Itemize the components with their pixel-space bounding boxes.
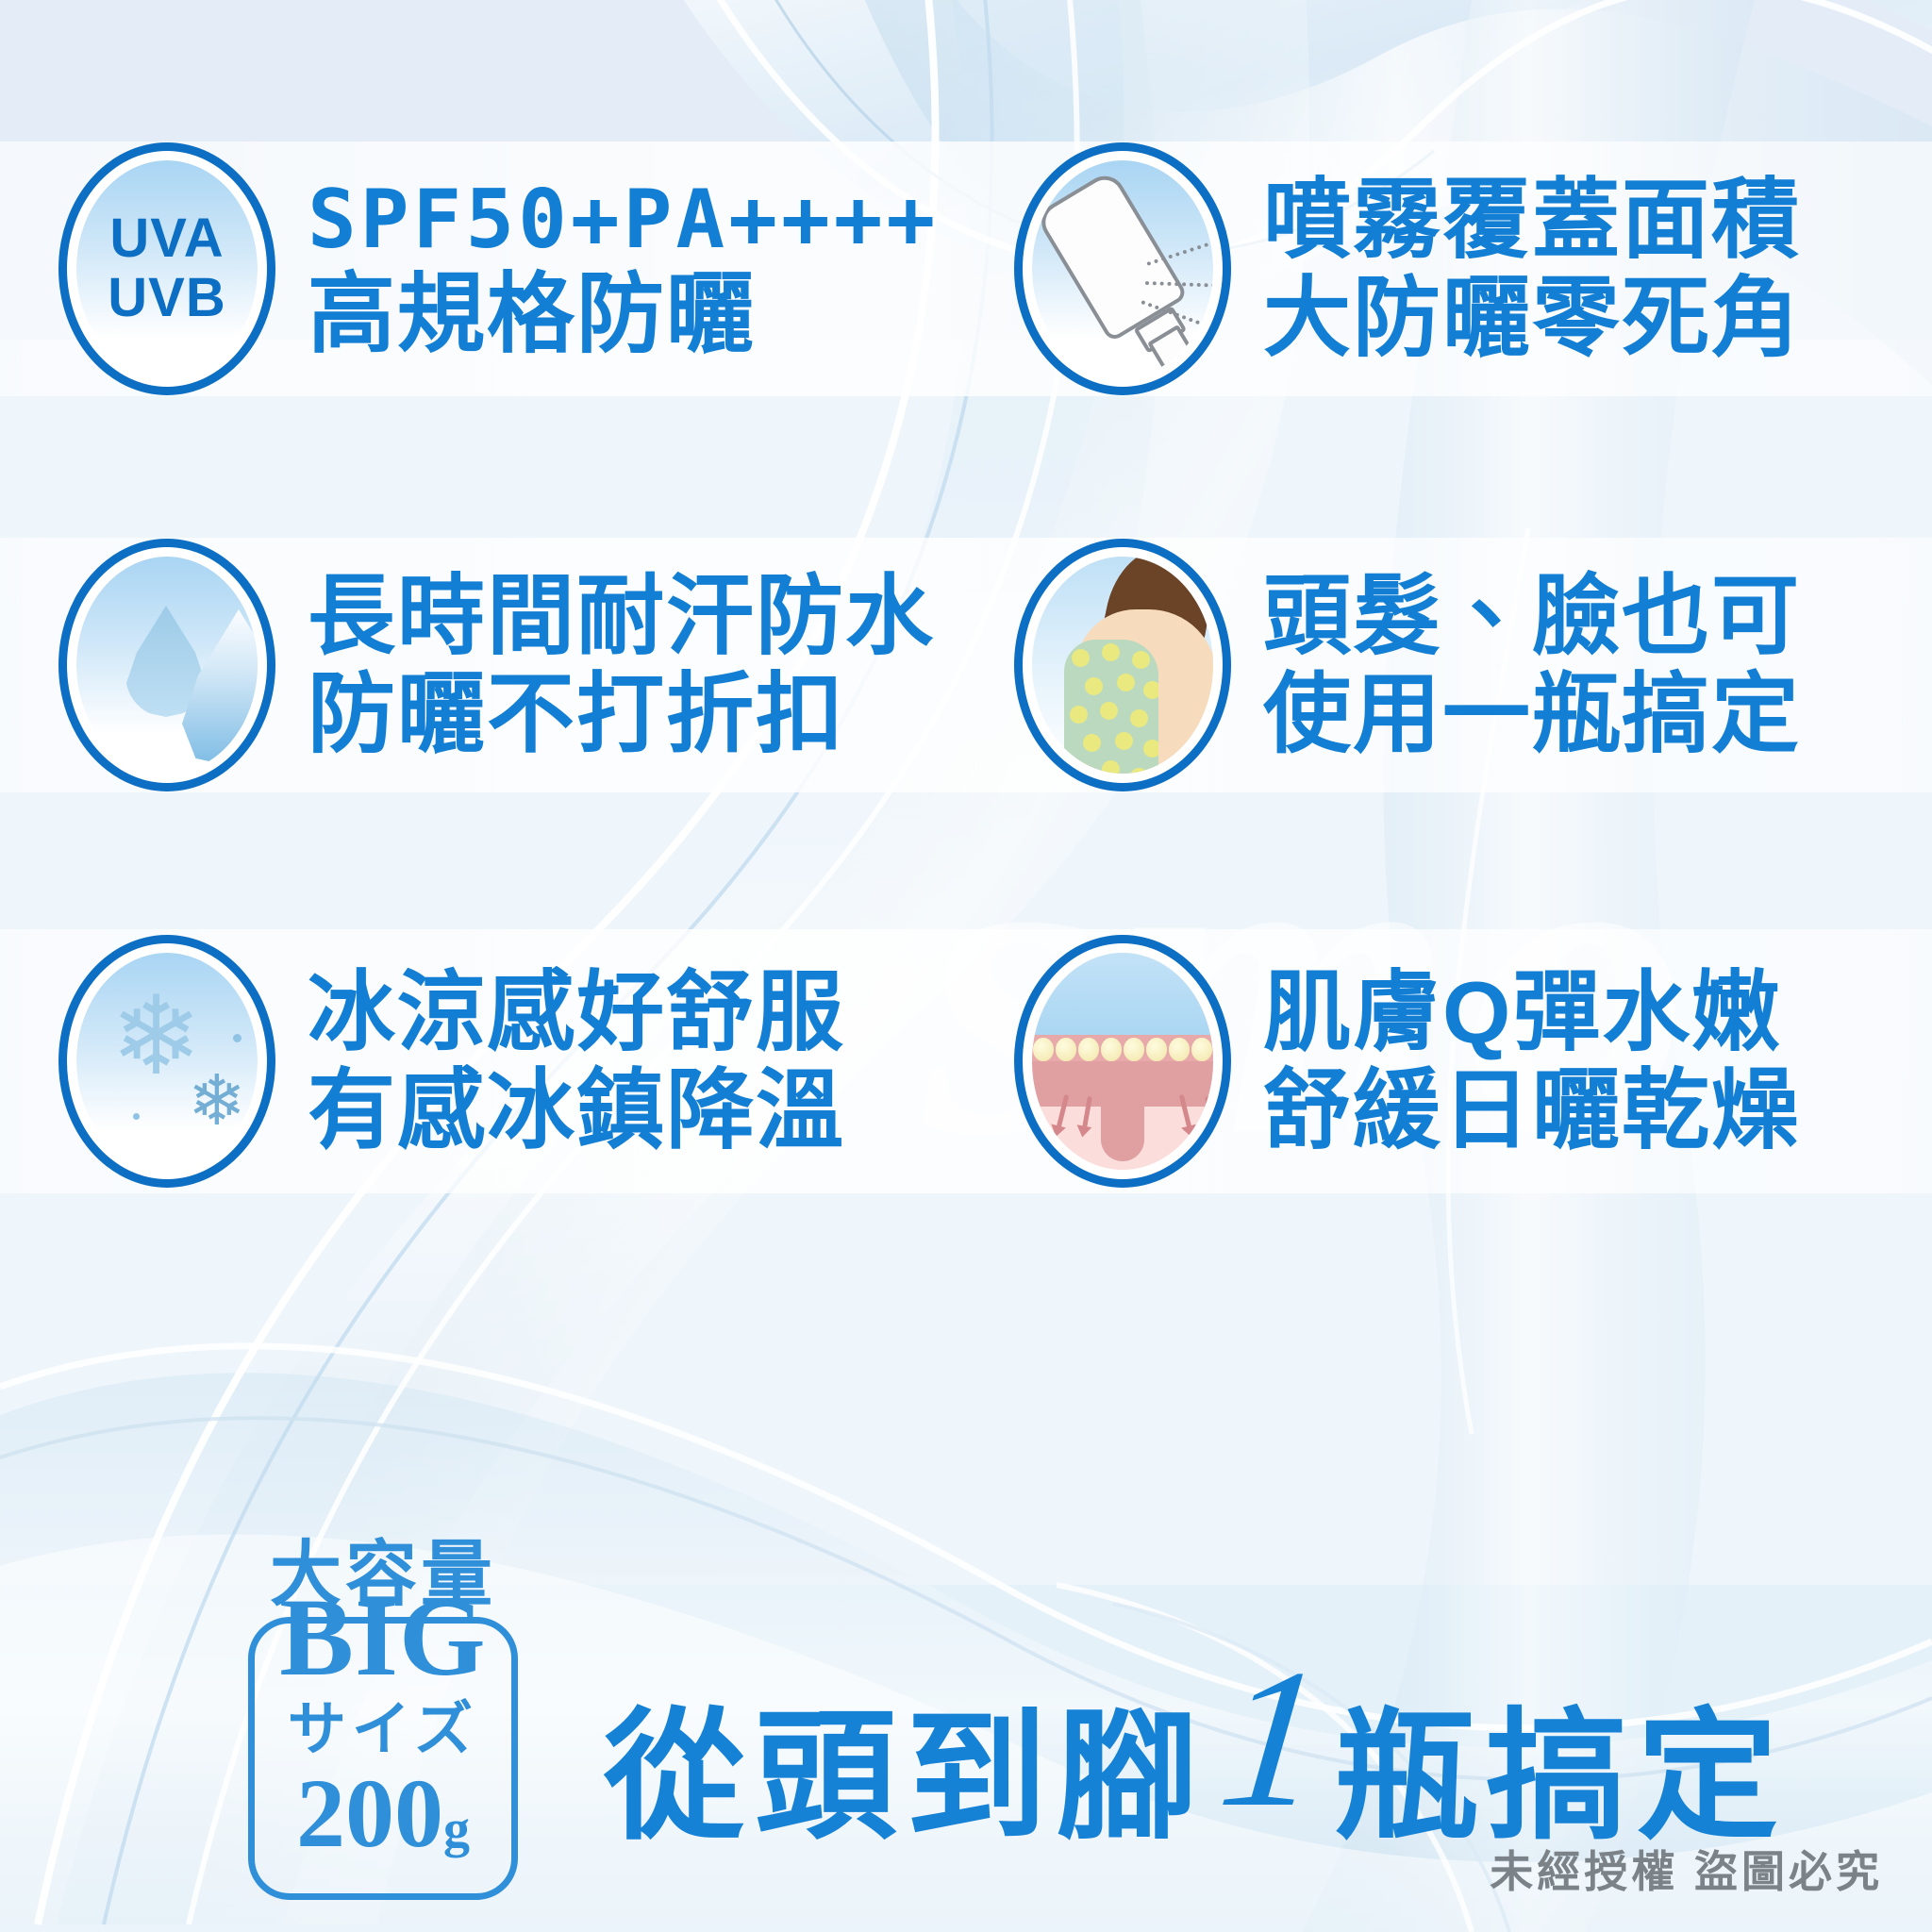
size-badge-weight-number: 200 (296, 1759, 443, 1868)
feature-line-2a: 噴霧覆蓋面積 (1263, 171, 1801, 269)
feature-line-5a: 冰涼感好舒服 (308, 963, 845, 1061)
badge-inner (1032, 557, 1213, 774)
skin-cross-section-icon (1014, 935, 1231, 1188)
feature-cell-skin[interactable]: 肌膚Q彈水嫩 舒緩日曬乾燥 (976, 934, 1932, 1189)
feature-text-3: 長時間耐汗防水 防曬不打折扣 (308, 567, 935, 763)
badge-inner: ❄ ❄ (76, 953, 258, 1170)
feature-text-6: 肌膚Q彈水嫩 舒緩日曬乾燥 (1263, 963, 1801, 1159)
feature-line-6a: 肌膚Q彈水嫩 (1263, 963, 1801, 1061)
headline-part-2: 瓶搞定 (1335, 1700, 1788, 1857)
feature-line-4b: 使用一瓶搞定 (1263, 665, 1801, 763)
feature-line-2b: 大防曬零死角 (1263, 269, 1801, 367)
skin-surface-layer (1032, 953, 1213, 1040)
woman-swimsuit-icon (1014, 539, 1231, 791)
feature-line-5b: 有感冰鎮降溫 (308, 1061, 845, 1159)
copyright-notice: 未經授權 盜圖必究 (1490, 1838, 1883, 1900)
skin-pore-shape (1101, 1088, 1144, 1161)
snowflake-icon: ❄ ❄ (58, 935, 275, 1188)
uva-uvb-badge-icon: UVA UVB (58, 142, 275, 395)
uva-label: UVA (109, 208, 224, 269)
snowflake-small-icon: ❄ (188, 1066, 246, 1136)
swimsuit-shape (1064, 640, 1158, 774)
size-badge-big-label: BIG (255, 1582, 511, 1693)
snow-dot-icon (233, 1034, 241, 1042)
size-badge-size-label: サイズ (255, 1701, 511, 1759)
feature-grid: UVA UVB SPF50+PA++++ 高規格防曬 (0, 0, 1932, 1500)
feature-row-3: ❄ ❄ 冰涼感好舒服 有感冰鎮降溫 (0, 934, 1932, 1189)
badge-inner (1032, 160, 1213, 377)
feature-text-2: 噴霧覆蓋面積 大防曬零死角 (1263, 171, 1801, 367)
feature-cell-cooling[interactable]: ❄ ❄ 冰涼感好舒服 有感冰鎮降溫 (0, 934, 976, 1189)
feature-cell-uva-uvb[interactable]: UVA UVB SPF50+PA++++ 高規格防曬 (0, 142, 976, 396)
skin-diagram (1032, 953, 1213, 1170)
headline-number-one: 1 (1212, 1640, 1341, 1838)
bottom-headline: 從頭到腳1瓶搞定 (604, 1660, 1788, 1858)
feature-line-1a: SPF50+PA++++ (308, 175, 939, 265)
size-badge-weight: 200g (255, 1765, 511, 1863)
feature-text-1: SPF50+PA++++ 高規格防曬 (308, 175, 939, 363)
size-badge: 大容量 BIG サイズ 200g (194, 1540, 572, 1900)
uva-uvb-label: UVA UVB (108, 209, 225, 327)
feature-cell-spray[interactable]: 噴霧覆蓋面積 大防曬零死角 (976, 142, 1932, 396)
skin-cell-row (1032, 1035, 1213, 1063)
water-drop-icon (58, 539, 275, 791)
feature-cell-hair-face[interactable]: 頭髮、臉也可 使用一瓶搞定 (976, 538, 1932, 792)
headline-part-1: 從頭到腳 (604, 1700, 1207, 1857)
poster-canvas: smo UVA UVB SPF50+PA++++ 高規格防曬 (0, 0, 1932, 1932)
badge-inner (1032, 953, 1213, 1170)
feature-row-2: 長時間耐汗防水 防曬不打折扣 (0, 538, 1932, 792)
feature-row-1: UVA UVB SPF50+PA++++ 高規格防曬 (0, 142, 1932, 396)
feature-line-1b: 高規格防曬 (308, 265, 939, 363)
feature-text-5: 冰涼感好舒服 有感冰鎮降溫 (308, 963, 845, 1159)
size-badge-weight-unit: g (443, 1800, 470, 1858)
badge-inner (76, 557, 258, 774)
feature-cell-waterproof[interactable]: 長時間耐汗防水 防曬不打折扣 (0, 538, 976, 792)
snow-dot-icon (133, 1113, 140, 1120)
feature-line-3a: 長時間耐汗防水 (308, 567, 935, 665)
feature-line-3b: 防曬不打折扣 (308, 665, 935, 763)
feature-line-4a: 頭髮、臉也可 (1263, 567, 1801, 665)
uvb-label: UVB (108, 267, 225, 328)
woman-illustration (1032, 557, 1213, 774)
feature-line-6b: 舒緩日曬乾燥 (1263, 1061, 1801, 1159)
size-badge-box: BIG サイズ 200g (248, 1617, 518, 1900)
spray-bottle-icon (1014, 142, 1231, 395)
feature-text-4: 頭髮、臉也可 使用一瓶搞定 (1263, 567, 1801, 763)
